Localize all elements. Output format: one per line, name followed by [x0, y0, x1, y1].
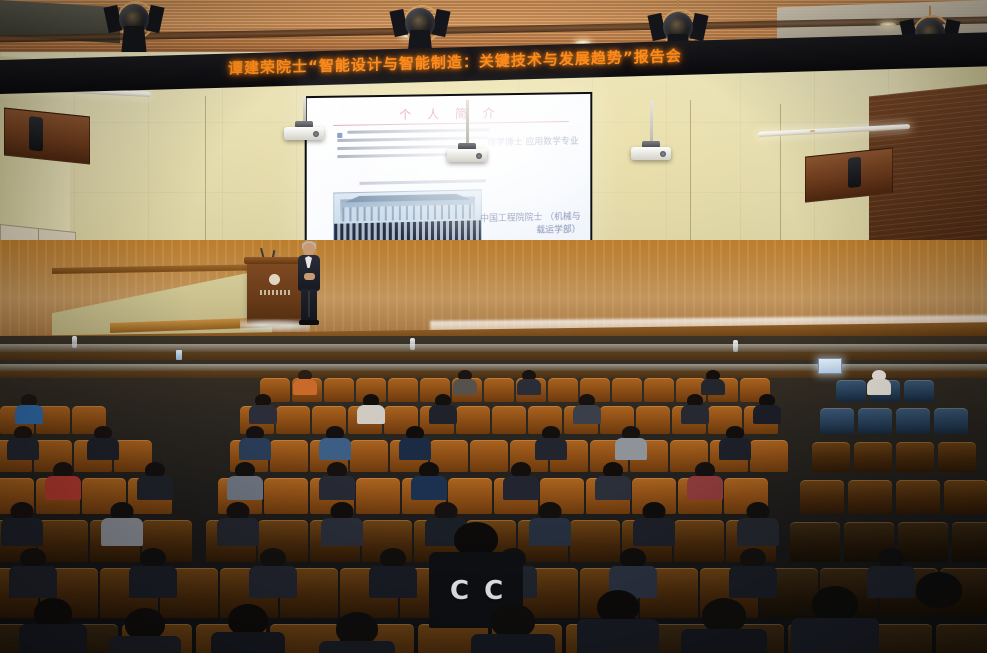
audience-seating-area: C C	[0, 336, 987, 653]
water-bottle	[410, 338, 415, 350]
ceiling-projector-left	[282, 96, 326, 142]
audience-member	[18, 598, 88, 653]
raised-phone	[176, 350, 182, 360]
presenter	[296, 243, 322, 327]
wall-speaker-icon	[29, 116, 43, 151]
open-laptop	[818, 358, 842, 374]
slide-side-text-top: 理学博士 应用数学专业	[476, 136, 579, 151]
seat-row	[0, 378, 987, 404]
audience-member	[108, 608, 182, 653]
audience-member	[790, 586, 880, 653]
ceiling-projector-right	[628, 100, 674, 162]
wall-speaker-alcove-right	[805, 147, 893, 202]
audience-member	[576, 590, 660, 653]
water-bottle	[733, 340, 738, 352]
audience-member	[892, 572, 986, 653]
lectern-emblem-icon	[269, 274, 280, 285]
slide-side-text-bottom: 中国工程院院士 （机械与载运学部）	[478, 211, 581, 239]
audience-member	[470, 604, 556, 653]
jacket-text: C C	[450, 576, 506, 606]
wall-speaker-icon	[848, 157, 861, 188]
ceiling-projector-center	[444, 100, 490, 164]
stage-spotlight-icon	[112, 0, 156, 58]
audience-member	[210, 604, 286, 653]
seat-row	[0, 406, 987, 436]
slide-photo-caption-line	[360, 179, 486, 185]
water-bottle	[72, 336, 77, 348]
audience-member	[318, 612, 396, 653]
seat-row	[0, 478, 987, 516]
lectern	[247, 262, 302, 324]
downlight	[880, 22, 896, 27]
auditorium-photo: 谭建荣院士“智能设计与智能制造：关键技术与发展趋势”报告会 个 人 简 介 理学…	[0, 0, 987, 653]
wall-speaker-alcove-left	[4, 107, 90, 164]
bullet-square-icon	[337, 133, 342, 138]
audience-member	[680, 598, 768, 653]
lectern-nameplate	[260, 290, 290, 295]
